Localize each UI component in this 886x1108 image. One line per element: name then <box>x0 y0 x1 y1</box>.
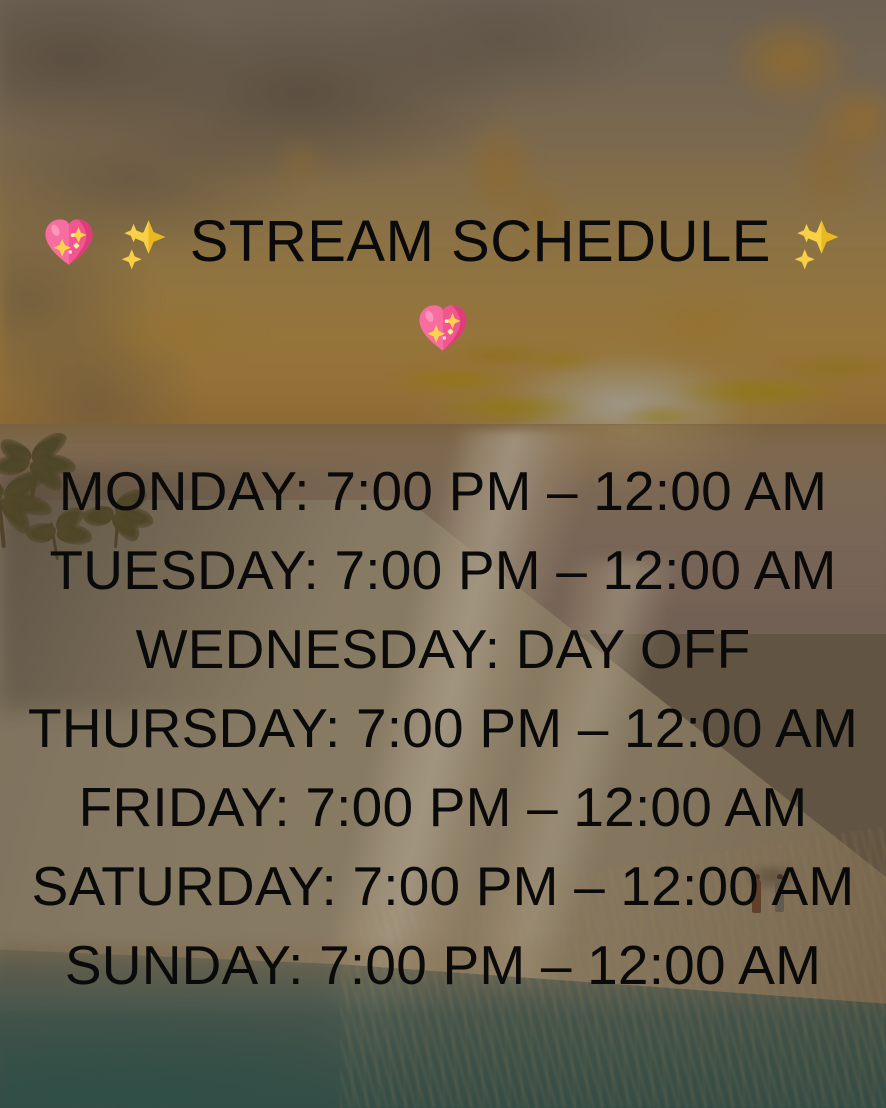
stream-schedule-poster: STREAM SCHEDULE <box>0 0 886 1108</box>
sparkling-heart-icon <box>40 213 98 290</box>
schedule-row-tuesday: TUESDAY: 7:00 PM – 12:00 AM <box>0 531 886 610</box>
title-line-2 <box>0 290 886 376</box>
title-line-1: STREAM SCHEDULE <box>0 204 886 290</box>
poster-content: STREAM SCHEDULE <box>0 0 886 1108</box>
sparkling-heart-icon <box>414 299 472 376</box>
title-block: STREAM SCHEDULE <box>0 204 886 376</box>
schedule-row-saturday: SATURDAY: 7:00 PM – 12:00 AM <box>0 847 886 926</box>
schedule-row-thursday: THURSDAY: 7:00 PM – 12:00 AM <box>0 689 886 768</box>
schedule-list: MONDAY: 7:00 PM – 12:00 AM TUESDAY: 7:00… <box>0 452 886 1005</box>
page-title: STREAM SCHEDULE <box>190 209 771 274</box>
schedule-row-monday: MONDAY: 7:00 PM – 12:00 AM <box>0 452 886 531</box>
schedule-row-wednesday: WEDNESDAY: DAY OFF <box>0 610 886 689</box>
schedule-row-friday: FRIDAY: 7:00 PM – 12:00 AM <box>0 768 886 847</box>
schedule-row-sunday: SUNDAY: 7:00 PM – 12:00 AM <box>0 926 886 1005</box>
sparkles-icon <box>115 213 173 290</box>
sparkles-icon <box>788 213 846 290</box>
